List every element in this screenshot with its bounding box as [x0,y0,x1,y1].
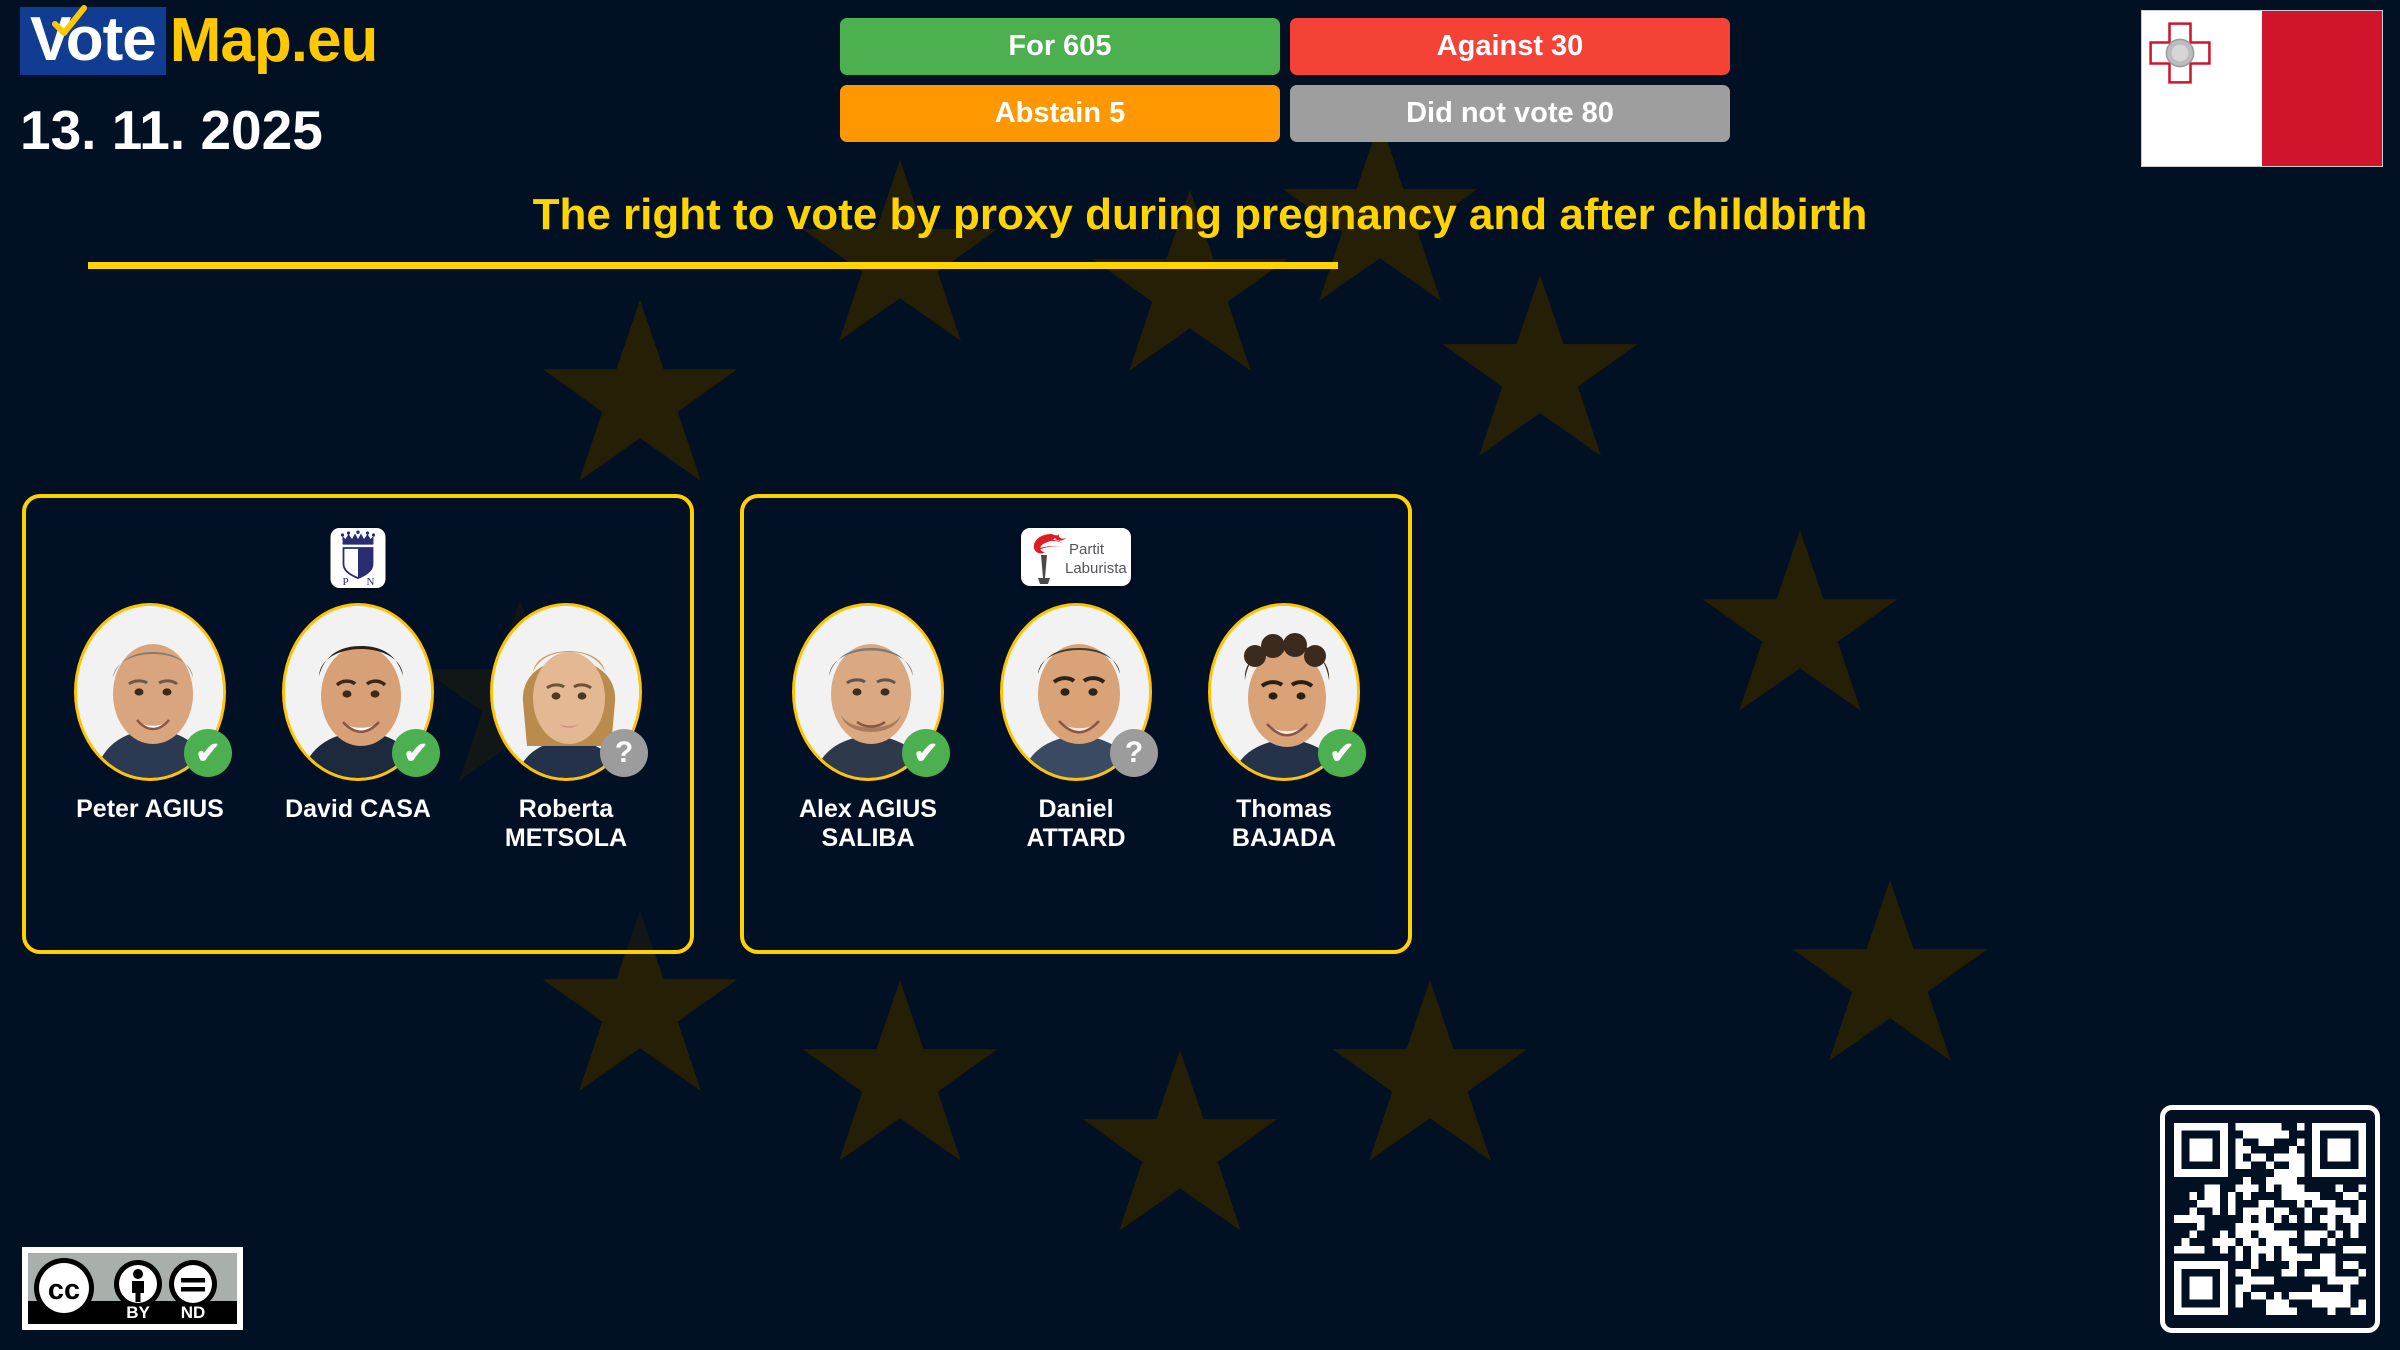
check-icon: ✔ [902,729,950,777]
mep-card[interactable]: ? Roberta METSOLA [476,603,656,853]
check-icon: ✔ [392,729,440,777]
question-icon: ? [1110,729,1158,777]
check-icon: ✔ [1318,729,1366,777]
party-card[interactable]: P N [22,494,694,954]
vote-summary-buttons: For 605 Against 30 Abstain 5 Did not vot… [840,18,1730,152]
svg-text:N: N [367,576,375,588]
svg-text:P: P [343,576,349,588]
check-icon [49,2,89,42]
mep-name: Thomas BAJADA [1232,795,1336,853]
mep-row: ✔ Peter AGIUS [26,603,690,853]
mep-name: Roberta METSOLA [505,795,627,853]
logo-text-map: Map.eu [170,10,378,72]
vote-date: 13. 11. 2025 [20,98,323,162]
for-button[interactable]: For 605 [840,18,1280,75]
mep-name: Peter AGIUS [76,795,224,824]
svg-text:cc: cc [48,1274,80,1306]
svg-text:Laburista: Laburista [1065,560,1127,577]
did-not-vote-button[interactable]: Did not vote 80 [1290,85,1730,142]
partit-nazzjonalista-logo: P N [331,528,386,588]
mep-name: David CASA [285,795,431,824]
mep-card[interactable]: ✔ David CASA [268,603,448,853]
mep-card[interactable]: ? Daniel ATTARD [986,603,1166,853]
page-title: The right to vote by proxy during pregna… [0,190,2400,240]
mep-row: ✔ Alex AGIUS SALIBA [744,603,1408,853]
mep-card[interactable]: ✔ Peter AGIUS [60,603,240,853]
mep-name: Daniel ATTARD [1026,795,1125,853]
against-button[interactable]: Against 30 [1290,18,1730,75]
title-underline [88,262,1338,269]
svg-text:BY: BY [126,1303,150,1322]
creative-commons-by-nd-icon[interactable]: cc BY ND [22,1247,243,1330]
question-icon: ? [600,729,648,777]
logo-badge: Vote [20,7,166,75]
mep-card[interactable]: ✔ Alex AGIUS SALIBA [778,603,958,853]
site-logo[interactable]: Vote Map.eu [20,6,377,76]
partit-laburista-logo: Partit Laburista [1021,528,1131,586]
mep-card[interactable]: ✔ Thomas BAJADA [1194,603,1374,853]
party-card[interactable]: Partit Laburista [740,494,1412,954]
page-header: Vote Map.eu 13. 11. 2025 For 605 Against… [0,0,2400,190]
svg-text:Partit: Partit [1069,541,1105,558]
svg-text:ND: ND [181,1303,206,1322]
qr-code-icon[interactable] [2160,1105,2380,1333]
mep-name: Alex AGIUS SALIBA [799,795,937,853]
abstain-button[interactable]: Abstain 5 [840,85,1280,142]
malta-flag-icon [2141,10,2383,167]
check-icon: ✔ [184,729,232,777]
